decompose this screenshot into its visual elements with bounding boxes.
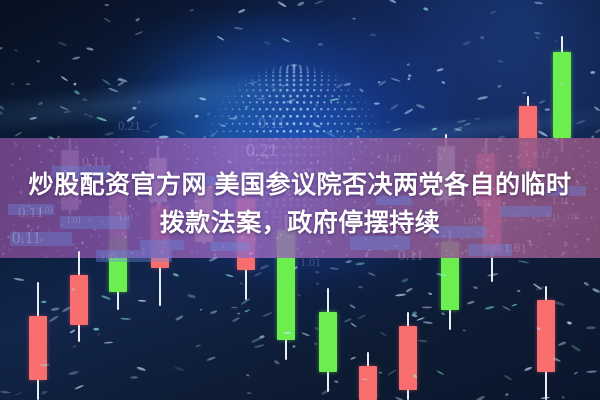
candle-body: [29, 316, 47, 380]
candle-11: [399, 312, 417, 400]
headline-line-2: 拨款法案，政府停摆持续: [0, 204, 600, 242]
candle-body: [537, 300, 555, 372]
candle-body: [70, 275, 88, 325]
headline-line-1: 炒股配资官方网 美国参议院否决两党各自的临时: [0, 166, 600, 204]
headline: 炒股配资官方网 美国参议院否决两党各自的临时 拨款法案，政府停摆持续: [0, 166, 600, 242]
candle-14: [537, 286, 555, 400]
candle-body: [399, 326, 417, 390]
news-banner: 0.110.111.011.011.110.111.011.010.210.11…: [0, 0, 600, 400]
candle-9: [319, 288, 337, 392]
candle-10: [359, 352, 377, 400]
candle-2: [70, 251, 88, 342]
candle-body: [359, 366, 377, 400]
candle-1: [29, 282, 47, 400]
candle-body: [319, 312, 337, 372]
